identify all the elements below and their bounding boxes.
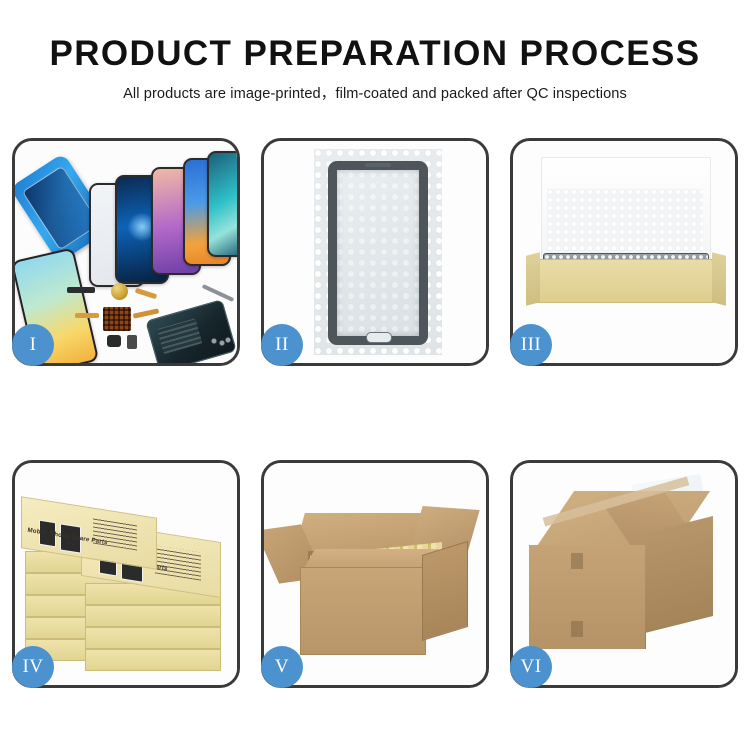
carton-side-face <box>422 541 468 641</box>
carton-flap-seam <box>571 621 583 637</box>
stacked-box <box>85 649 221 671</box>
phone-backplate-open <box>145 299 237 363</box>
step-badge-3: III <box>510 324 552 366</box>
step-panel-2[interactable]: II <box>261 138 489 366</box>
page-subtitle: All products are image-printed，film-coat… <box>0 73 750 103</box>
foam-padding <box>547 189 703 263</box>
part-connector-bar <box>67 287 95 293</box>
part-camera-module <box>107 335 121 347</box>
part-battery <box>127 335 137 349</box>
part-speaker-coil <box>111 283 128 300</box>
bubble-wrap-sheet <box>314 149 442 355</box>
step-panel-6[interactable]: VI <box>510 460 738 688</box>
part-flex-cable-1 <box>75 313 99 318</box>
sealed-carton-side <box>645 516 713 633</box>
part-copper-grid <box>103 307 131 331</box>
stacked-box <box>85 627 221 649</box>
process-steps-grid: I II III <box>12 138 738 688</box>
step-panel-1[interactable]: I <box>12 138 240 366</box>
step-panel-3[interactable]: III <box>510 138 738 366</box>
step-badge-4: IV <box>12 646 54 688</box>
repair-tool-icon <box>202 284 235 302</box>
step-badge-1: I <box>12 324 54 366</box>
step-badge-2: II <box>261 324 303 366</box>
step-badge-5: V <box>261 646 303 688</box>
carton-front-face <box>300 567 426 655</box>
kraft-box-base <box>533 259 719 303</box>
carton-flap-seam <box>571 553 583 569</box>
part-flex-cable-2 <box>135 288 157 300</box>
step-panel-5[interactable]: V <box>261 460 489 688</box>
step-badge-6: VI <box>510 646 552 688</box>
stacked-box <box>85 605 221 627</box>
wrapped-phone-glass <box>328 161 428 345</box>
sealed-carton-front <box>529 545 646 649</box>
step-panel-4[interactable]: Mobile Phone Spare Parts Mobile Phone Sp… <box>12 460 240 688</box>
page-header: PRODUCT PREPARATION PROCESS All products… <box>0 0 750 103</box>
part-screws <box>211 337 231 347</box>
phone-screen-teal <box>207 151 237 257</box>
page-title: PRODUCT PREPARATION PROCESS <box>0 0 750 73</box>
